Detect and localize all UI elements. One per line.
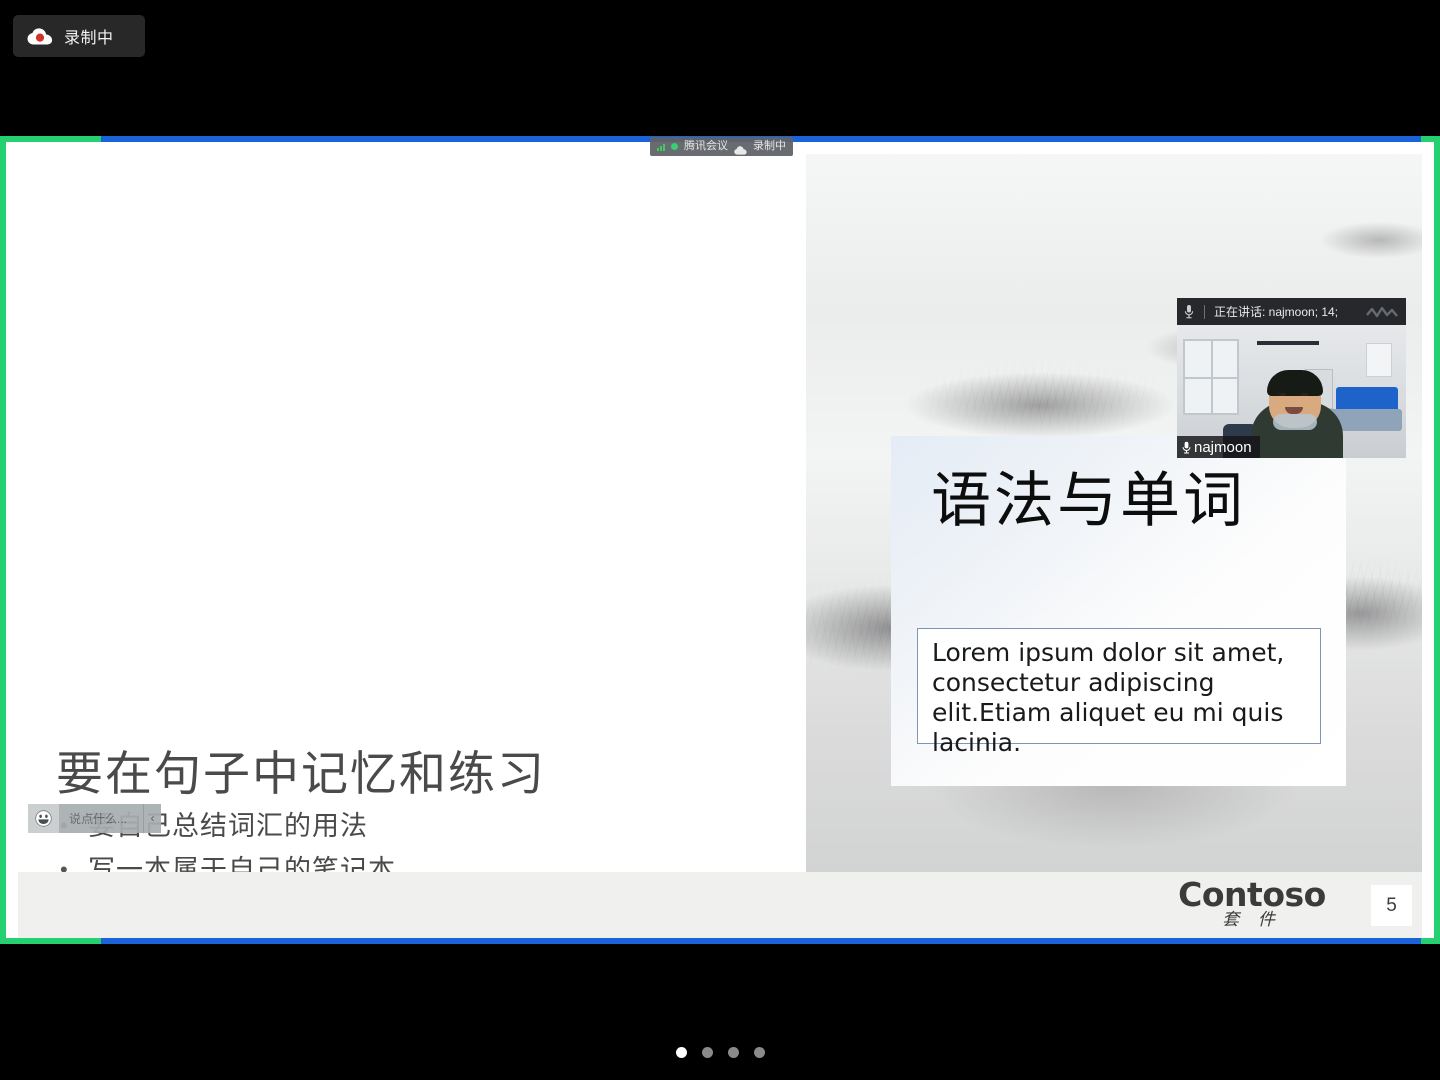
page-dot-2[interactable] (702, 1047, 713, 1058)
window-shape (1183, 339, 1239, 415)
signal-bars-icon (657, 142, 665, 151)
chevron-left-icon[interactable]: ‹ (143, 804, 161, 833)
header-divider (1204, 305, 1205, 319)
wall-picture-frame (1366, 343, 1392, 377)
slide-title: 要在句子中记忆和练习 (56, 735, 546, 804)
recording-label: 录制中 (64, 24, 114, 48)
chat-input-placeholder[interactable]: 说点什么... (59, 810, 143, 827)
participant-video-tile[interactable]: 正在讲话: najmoon; 14; (1177, 298, 1406, 458)
lorem-text: Lorem ipsum dolor sit amet, consectetur … (932, 638, 1306, 758)
green-status-dot (671, 143, 678, 150)
photo-card-heading: 语法与单词 (931, 452, 1246, 539)
video-feed: najmoon (1177, 325, 1406, 458)
presentation-slide: 要在句子中记忆和练习 要自己总结词汇的用法 写一本属于自己的笔记本 在句子中记忆… (18, 154, 1422, 938)
face-mask (1273, 414, 1317, 430)
person-hair (1267, 370, 1323, 396)
slide-right-photo-panel: 语法与单词 Lorem ipsum dolor sit amet, consec… (806, 154, 1422, 872)
chat-input-bar[interactable]: 说点什么... ‹ (28, 804, 161, 833)
shared-screen-frame: 要在句子中记忆和练习 要自己总结词汇的用法 写一本属于自己的笔记本 在句子中记忆… (0, 136, 1440, 944)
pagination-dots[interactable] (0, 1047, 1440, 1058)
page-dot-3[interactable] (728, 1047, 739, 1058)
meeting-recording-label: 录制中 (753, 141, 786, 152)
slide-page-number: 5 (1371, 885, 1412, 926)
microphone-icon (1181, 441, 1192, 454)
cloud-record-icon (27, 28, 53, 45)
contoso-wordmark: Contoso (1172, 878, 1332, 912)
person-eye-right (1301, 393, 1308, 396)
page-dot-4[interactable] (754, 1047, 765, 1058)
participant-name: najmoon (1194, 440, 1252, 455)
video-tile-header: 正在讲话: najmoon; 14; (1177, 298, 1406, 325)
slide-left-column: 要在句子中记忆和练习 要自己总结词汇的用法 写一本属于自己的笔记本 在句子中记忆… (18, 154, 806, 872)
contoso-logo: Contoso 套 件 (1172, 878, 1332, 930)
meeting-app-name: 腾讯会议 (684, 141, 728, 152)
screen-root: 录制中 要在句子中记忆和练习 要自己总结词汇的用法 写一本属于自己的笔记本 在句… (0, 0, 1440, 1080)
photo-overlay-card: 语法与单词 Lorem ipsum dolor sit amet, consec… (891, 436, 1346, 786)
smiley-face-icon[interactable] (28, 804, 59, 833)
presenting-bar-bottom (101, 938, 1421, 944)
speaking-status-label: 正在讲话: najmoon; 14; (1214, 306, 1338, 318)
tencent-meeting-toolbar[interactable]: 腾讯会议 录制中 (650, 137, 793, 156)
wall-shelf-line (1257, 341, 1319, 345)
slide-footer: Contoso 套 件 5 (18, 872, 1422, 938)
participant-name-badge: najmoon (1177, 436, 1260, 458)
microphone-icon (1183, 304, 1195, 319)
lorem-text-box: Lorem ipsum dolor sit amet, consectetur … (917, 628, 1321, 744)
page-dot-1[interactable] (676, 1047, 687, 1058)
audio-waveform-icon (1365, 306, 1399, 319)
cloud-icon (734, 142, 747, 151)
person-eye-left (1279, 393, 1286, 396)
recording-indicator-pill[interactable]: 录制中 (13, 15, 145, 57)
